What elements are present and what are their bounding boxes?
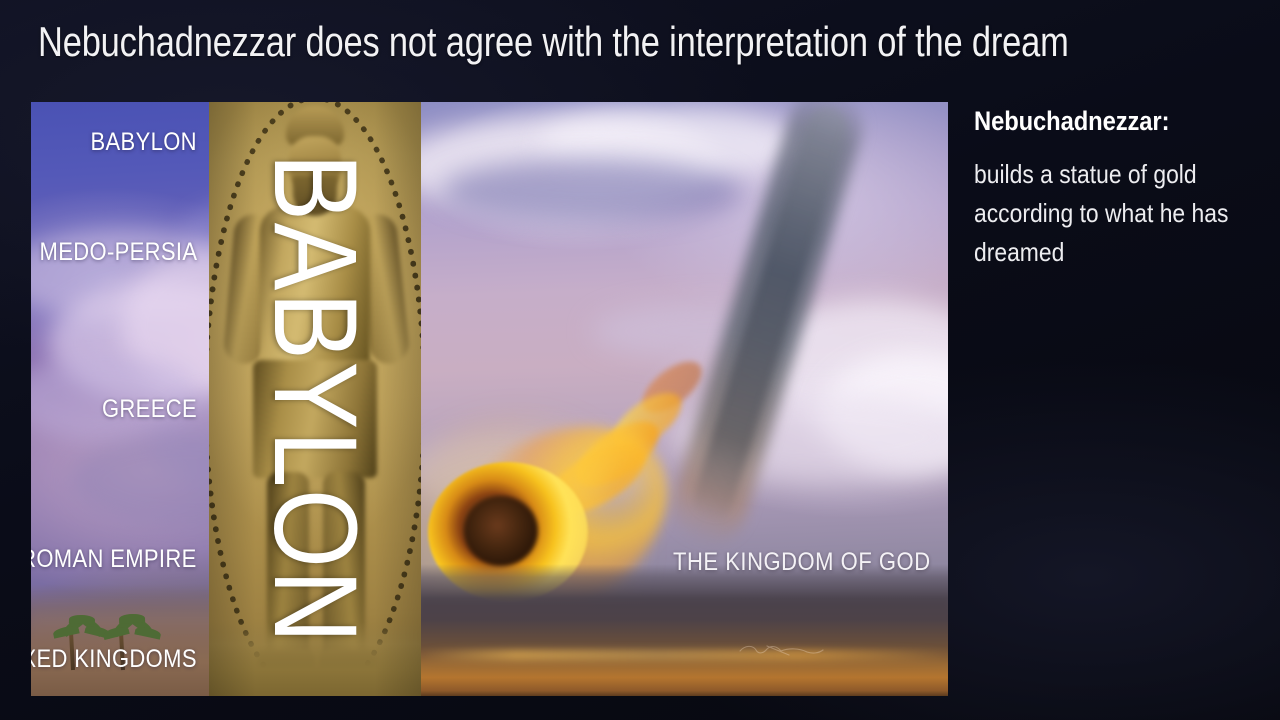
- horizon-light-streak: [421, 650, 948, 660]
- page-title: Nebuchadnezzar does not agree with the i…: [38, 18, 1030, 66]
- kingdom-of-god-caption: THE KINGDOM OF GOD: [673, 548, 931, 577]
- meteor-striking-earth-image: THE KINGDOM OF GOD: [421, 102, 948, 696]
- picture-group: BABYLON MEDO-PERSIA GREECE ROMAN EMPIRE …: [31, 102, 948, 696]
- meteor-rock-core: [464, 496, 538, 566]
- gold-statue-image: BABYLON: [209, 102, 421, 696]
- landscape-horizon: [421, 564, 948, 696]
- side-text-heading: Nebuchadnezzar:: [974, 106, 1227, 137]
- side-text-body: builds a statue of gold according to wha…: [974, 155, 1264, 272]
- empire-label-roman-empire: ROMAN EMPIRE: [31, 545, 197, 574]
- artist-signature: [737, 642, 825, 658]
- babylon-vertical-label: BABYLON: [256, 153, 374, 644]
- cloud-shape: [441, 158, 741, 222]
- side-text-block: Nebuchadnezzar: builds a statue of gold …: [974, 106, 1262, 272]
- empire-label-babylon: BABYLON: [91, 128, 197, 157]
